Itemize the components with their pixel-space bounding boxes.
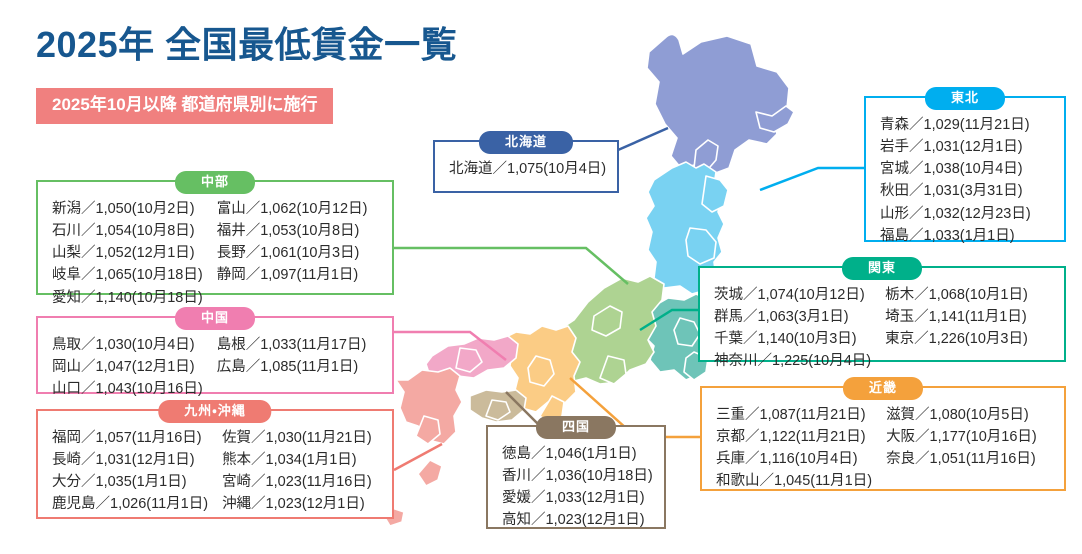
panel-title-kanto: 関東 bbox=[842, 257, 922, 280]
spacer bbox=[886, 471, 1037, 492]
prefecture-entry: 熊本／1,034(1月1日) bbox=[222, 450, 372, 471]
panel-title-chubu: 中部 bbox=[175, 171, 255, 194]
panel-title-kyushu: 九州・沖縄 bbox=[158, 400, 271, 423]
prefecture-entry: 広島／1,085(11月1日) bbox=[217, 357, 367, 378]
panel-kinki[interactable]: 近畿 三重／1,087(11月21日)滋賀／1,080(10月5日)京都／1,1… bbox=[700, 386, 1066, 491]
prefecture-entry: 三重／1,087(11月21日) bbox=[716, 405, 872, 426]
prefecture-entry: 茨城／1,074(10月12日) bbox=[714, 285, 871, 306]
prefecture-entry: 長崎／1,031(12月1日) bbox=[52, 450, 208, 471]
prefecture-entry: 兵庫／1,116(10月4日) bbox=[716, 449, 872, 470]
prefecture-entry: 神奈川／1,225(10月4日) bbox=[714, 351, 871, 372]
prefecture-entry: 新潟／1,050(10月2日) bbox=[52, 199, 203, 220]
prefecture-entry: 佐賀／1,030(11月21日) bbox=[222, 428, 372, 449]
prefecture-entry: 香川／1,036(10月18日) bbox=[502, 466, 653, 487]
panel-body-kanto: 茨城／1,074(10月12日)栃木／1,068(10月1日)群馬／1,063(… bbox=[700, 268, 1064, 383]
panel-hokkaido[interactable]: 北海道 北海道／1,075(10月4日) bbox=[433, 140, 619, 193]
prefecture-entry: 愛媛／1,033(12月1日) bbox=[502, 488, 653, 509]
panel-body-chugoku: 鳥取／1,030(10月4日)島根／1,033(11月17日)岡山／1,047(… bbox=[38, 318, 392, 410]
panel-kanto[interactable]: 関東 茨城／1,074(10月12日)栃木／1,068(10月1日)群馬／1,0… bbox=[698, 266, 1066, 362]
panel-tohoku[interactable]: 東北 青森／1,029(11月21日)岩手／1,031(12月1日)宮城／1,0… bbox=[864, 96, 1066, 242]
connector-tohoku bbox=[760, 168, 864, 190]
prefecture-entry: 千葉／1,140(10月3日) bbox=[714, 329, 871, 350]
prefecture-entry: 青森／1,029(11月21日) bbox=[880, 115, 1050, 136]
prefecture-entry: 長野／1,061(10月3日) bbox=[217, 243, 368, 264]
prefecture-entry: 高知／1,023(12月1日) bbox=[502, 510, 653, 531]
prefecture-entry: 宮崎／1,023(11月16日) bbox=[222, 472, 372, 493]
prefecture-entry: 福島／1,033(1月1日) bbox=[880, 226, 1050, 247]
prefecture-entry: 奈良／1,051(11月16日) bbox=[886, 449, 1037, 470]
panel-title-tohoku: 東北 bbox=[925, 87, 1005, 110]
prefecture-entry: 岡山／1,047(12月1日) bbox=[52, 357, 203, 378]
panel-shikoku[interactable]: 四国 徳島／1,046(1月1日)香川／1,036(10月18日)愛媛／1,03… bbox=[486, 425, 666, 529]
connector-chugoku bbox=[394, 332, 506, 360]
prefecture-entry: 岩手／1,031(12月1日) bbox=[880, 137, 1050, 158]
prefecture-entry: 富山／1,062(10月12日) bbox=[217, 199, 368, 220]
connector-kyushu bbox=[394, 444, 442, 470]
spacer bbox=[217, 288, 368, 309]
prefecture-entry: 大分／1,035(1月1日) bbox=[52, 472, 208, 493]
connector-hokkaido bbox=[618, 128, 668, 150]
prefecture-entry: 大阪／1,177(10月16日) bbox=[886, 427, 1037, 448]
panel-chugoku[interactable]: 中国 鳥取／1,030(10月4日)島根／1,033(11月17日)岡山／1,0… bbox=[36, 316, 394, 394]
prefecture-entry: 愛知／1,140(10月18日) bbox=[52, 288, 203, 309]
panel-body-tohoku: 青森／1,029(11月21日)岩手／1,031(12月1日)宮城／1,038(… bbox=[866, 98, 1064, 257]
spacer bbox=[885, 351, 1028, 372]
panel-body-kyushu: 福岡／1,057(11月16日)佐賀／1,030(11月21日)長崎／1,031… bbox=[38, 411, 392, 526]
panel-kyushu[interactable]: 九州・沖縄 福岡／1,057(11月16日)佐賀／1,030(11月21日)長崎… bbox=[36, 409, 394, 519]
panel-chubu[interactable]: 中部 新潟／1,050(10月2日)富山／1,062(10月12日)石川／1,0… bbox=[36, 180, 394, 295]
prefecture-entry: 和歌山／1,045(11月1日) bbox=[716, 471, 872, 492]
prefecture-entry: 山形／1,032(12月23日) bbox=[880, 204, 1050, 225]
prefecture-entry: 栃木／1,068(10月1日) bbox=[885, 285, 1028, 306]
connector-kanto bbox=[640, 310, 698, 330]
prefecture-entry: 福岡／1,057(11月16日) bbox=[52, 428, 208, 449]
prefecture-entry: 島根／1,033(11月17日) bbox=[217, 335, 367, 356]
prefecture-entry: 徳島／1,046(1月1日) bbox=[502, 444, 653, 465]
prefecture-entry: 群馬／1,063(3月1日) bbox=[714, 307, 871, 328]
prefecture-entry: 静岡／1,097(11月1日) bbox=[217, 265, 368, 286]
prefecture-entry: 北海道／1,075(10月4日) bbox=[449, 159, 606, 180]
prefecture-entry: 岐阜／1,065(10月18日) bbox=[52, 265, 203, 286]
prefecture-entry: 滋賀／1,080(10月5日) bbox=[886, 405, 1037, 426]
infographic-root: 2025年 全国最低賃金一覧 2025年10月以降 都道府県別に施行 bbox=[0, 0, 1082, 554]
panel-title-kinki: 近畿 bbox=[843, 377, 923, 400]
prefecture-entry: 山梨／1,052(12月1日) bbox=[52, 243, 203, 264]
prefecture-entry: 鳥取／1,030(10月4日) bbox=[52, 335, 203, 356]
panel-title-chugoku: 中国 bbox=[175, 307, 255, 330]
panel-body-shikoku: 徳島／1,046(1月1日)香川／1,036(10月18日)愛媛／1,033(1… bbox=[488, 427, 664, 542]
prefecture-entry: 京都／1,122(11月21日) bbox=[716, 427, 872, 448]
spacer bbox=[217, 379, 367, 400]
prefecture-entry: 埼玉／1,141(11月1日) bbox=[885, 307, 1028, 328]
connector-chubu bbox=[394, 248, 628, 284]
prefecture-entry: 沖縄／1,023(12月1日) bbox=[222, 494, 372, 515]
panel-title-hokkaido: 北海道 bbox=[479, 131, 573, 154]
prefecture-entry: 東京／1,226(10月3日) bbox=[885, 329, 1028, 350]
prefecture-entry: 秋田／1,031(3月31日) bbox=[880, 181, 1050, 202]
panel-body-chubu: 新潟／1,050(10月2日)富山／1,062(10月12日)石川／1,054(… bbox=[38, 182, 392, 319]
prefecture-entry: 山口／1,043(10月16日) bbox=[52, 379, 203, 400]
prefecture-entry: 石川／1,054(10月8日) bbox=[52, 221, 203, 242]
prefecture-entry: 宮城／1,038(10月4日) bbox=[880, 159, 1050, 180]
panel-title-shikoku: 四国 bbox=[536, 416, 616, 439]
prefecture-entry: 福井／1,053(10月8日) bbox=[217, 221, 368, 242]
panel-body-kinki: 三重／1,087(11月21日)滋賀／1,080(10月5日)京都／1,122(… bbox=[702, 388, 1064, 503]
prefecture-entry: 鹿児島／1,026(11月1日) bbox=[52, 494, 208, 515]
